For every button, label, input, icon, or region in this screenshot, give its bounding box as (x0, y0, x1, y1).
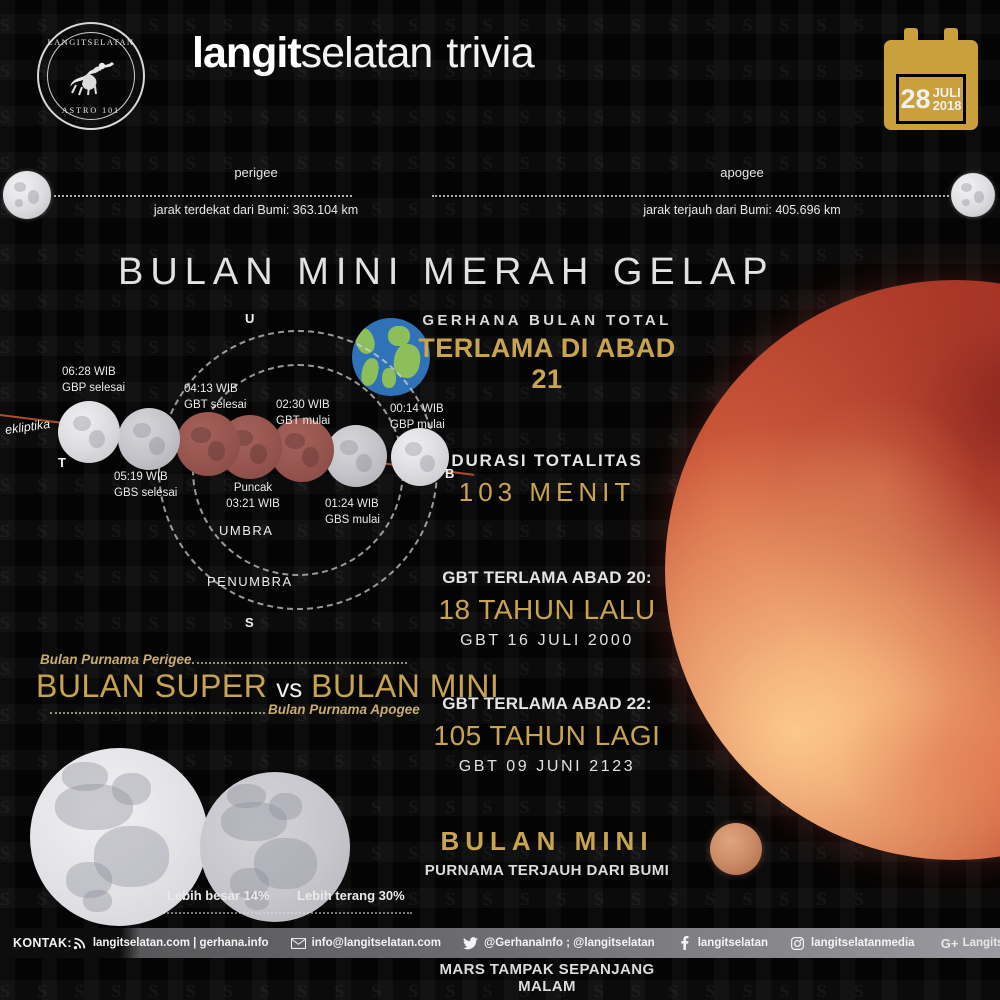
calendar-body: 28 JULI 2018 (884, 40, 978, 130)
ecliptic-label: ekliptika (4, 417, 51, 437)
contact-instagram[interactable]: langitselatanmedia (790, 937, 915, 950)
compare-dotted-line-bottom (50, 712, 265, 714)
eclipse-moon-gbt-selesai (176, 412, 240, 476)
horse-rider-icon (62, 53, 120, 99)
langitselatan-logo[interactable]: LANGITSELATAN ASTRO 101 (37, 22, 145, 130)
phase-event-gbt-mulai: GBT mulai (276, 414, 386, 430)
contact-facebook[interactable]: langitselatan (677, 937, 768, 950)
compare-title-left: BULAN SUPER (36, 668, 267, 704)
contact-googleplus[interactable]: G+ LangitselatanMedia (937, 937, 1000, 950)
eclipse-facts-column: GERHANA BULAN TOTAL TERLAMA DI ABAD 21 D… (412, 312, 682, 995)
envelope-icon (291, 937, 306, 950)
googleplus-icon: G+ (937, 937, 963, 950)
eclipse-kicker: GERHANA BULAN TOTAL (412, 312, 682, 329)
phase-time-gbt-mulai: 02:30 WIB (276, 398, 386, 414)
duration-value: 103 MENIT (412, 477, 682, 508)
brand-suffix: trivia (446, 29, 534, 77)
umbra-label: UMBRA (219, 523, 273, 538)
peak-time: 03:21 WIB (198, 497, 308, 513)
century22-label: GBT TERLAMA ABAD 22: (412, 694, 682, 714)
calendar-badge: 28 JULI 2018 (884, 28, 978, 130)
contact-bar: KONTAK: langitselatan.com | gerhana.info… (0, 928, 1000, 958)
perigee-title: perigee (96, 165, 416, 180)
apogee-detail: jarak terjauh dari Bumi: 405.696 km (562, 203, 922, 217)
peak-label: Puncak (198, 481, 308, 497)
eclipse-moon-gbp-selesai (58, 401, 120, 463)
century20-value: 18 TAHUN LALU (412, 594, 682, 626)
contact-googleplus-text: LangitselatanMedia (963, 937, 1000, 949)
compare-title-mid: vs (276, 673, 302, 703)
compare-caption-line (152, 912, 412, 914)
peak-label-group: Puncak 03:21 WIB (198, 481, 308, 512)
minimoon-headline: BULAN MINI (412, 826, 682, 857)
apogee-title: apogee (562, 165, 922, 180)
contact-website[interactable]: langitselatan.com | gerhana.info (72, 937, 269, 950)
page-title: BULAN MINI MERAH GELAP (118, 251, 775, 294)
brand-light: selatan (301, 29, 433, 77)
mars-subtitle: MARS TAMPAK SEPANJANG MALAM (412, 961, 682, 995)
contact-website-text: langitselatan.com | gerhana.info (93, 937, 269, 949)
penumbra-label: PENUMBRA (207, 574, 293, 589)
brand-bold: langit (192, 29, 301, 77)
apogee-moon-icon (951, 173, 995, 217)
compare-subtitle-perigee: Bulan Purnama Perigee (40, 652, 192, 667)
perigee-label-group: perigee jarak terdekat dari Bumi: 363.10… (96, 165, 416, 217)
calendar-year: 2018 (933, 99, 962, 112)
eclipse-headline: TERLAMA DI ABAD 21 (412, 333, 682, 395)
axis-label-south: S (245, 615, 254, 630)
caption-brightness-difference: Lebih terang 30% (297, 888, 405, 903)
perigee-moon-icon (3, 171, 51, 219)
calendar-window: 28 JULI 2018 (896, 74, 966, 124)
axis-label-east: T (58, 455, 66, 470)
mars-planet-image (710, 823, 762, 875)
perigee-detail: jarak terdekat dari Bumi: 363.104 km (96, 203, 416, 217)
phase-event-gbp-selesai: GBP selesai (62, 381, 172, 397)
contact-facebook-text: langitselatan (698, 937, 768, 949)
logo-bottom-text: ASTRO 101 (39, 106, 143, 115)
axis-label-north: U (245, 311, 254, 326)
logo-top-text: LANGITSELATAN (39, 37, 143, 47)
minimoon-subtitle: PURNAMA TERJAUH DARI BUMI (412, 862, 682, 879)
apogee-label-group: apogee jarak terjauh dari Bumi: 405.696 … (562, 165, 922, 217)
eclipse-moon-gbs-mulai (325, 425, 387, 487)
perigee-apogee-strip: perigee jarak terdekat dari Bumi: 363.10… (0, 155, 1000, 251)
contact-instagram-text: langitselatanmedia (811, 937, 915, 949)
century20-label: GBT TERLAMA ABAD 20: (412, 568, 682, 588)
phase-time-gbt-selesai: 04:13 WIB (184, 382, 294, 398)
century22-value: 105 TAHUN LAGI (412, 720, 682, 752)
contact-label: KONTAK: (0, 936, 72, 950)
contact-twitter-text: @GerhanaInfo ; @langitselatan (484, 937, 655, 949)
duration-label: DURASI TOTALITAS (412, 451, 682, 471)
eclipse-path-diagram: ekliptika U S T B 06:28 WIB GBP selesai … (0, 305, 470, 650)
phase-time-gbp-selesai: 06:28 WIB (62, 365, 172, 381)
facebook-icon (677, 937, 692, 950)
rss-icon (72, 937, 87, 950)
century22-date: GBT 09 JUNI 2123 (412, 758, 682, 776)
phase-label-gbp-selesai: 06:28 WIB GBP selesai (62, 365, 172, 396)
instagram-icon (790, 937, 805, 950)
brand-title: langitselatantrivia (192, 32, 534, 75)
compare-dotted-line-top (192, 662, 407, 664)
contact-email-text: info@langitselatan.com (312, 937, 441, 949)
century20-date: GBT 16 JULI 2000 (412, 632, 682, 650)
contact-twitter[interactable]: @GerhanaInfo ; @langitselatan (463, 937, 655, 950)
twitter-icon (463, 937, 478, 950)
caption-size-difference: Lebih besar 14% (167, 888, 270, 903)
calendar-day: 28 (901, 86, 931, 113)
eclipse-moon-gbs-selesai (118, 408, 180, 470)
phase-label-gbt-mulai: 02:30 WIB GBT mulai (276, 398, 386, 429)
contact-email[interactable]: info@langitselatan.com (291, 937, 441, 950)
